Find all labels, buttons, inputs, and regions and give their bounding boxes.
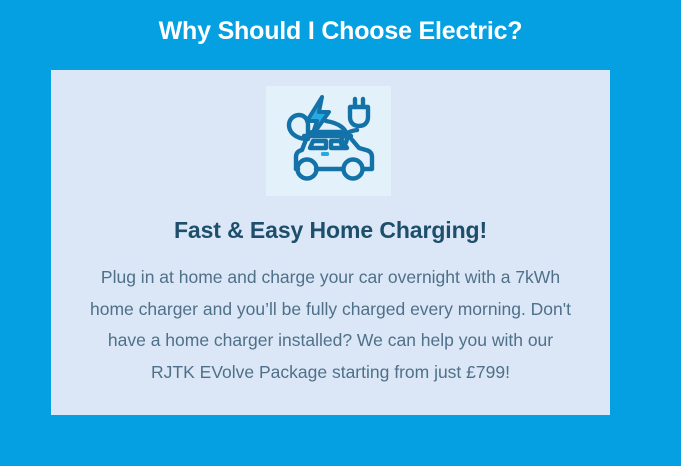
electric-promo-panel: Why Should I Choose Electric? <box>0 0 681 466</box>
body-line: home charger and you’ll be fully charged… <box>65 294 596 326</box>
card-body-text: Plug in at home and charge your car over… <box>65 262 596 388</box>
body-line: RJTK EVolve Package starting from just £… <box>65 357 596 389</box>
card-heading: Fast & Easy Home Charging! <box>51 215 610 245</box>
electric-car-charging-icon <box>277 95 381 187</box>
body-line: have a home charger installed? We can he… <box>65 325 596 357</box>
body-line: Plug in at home and charge your car over… <box>65 262 596 294</box>
page-title: Why Should I Choose Electric? <box>0 15 681 47</box>
feature-card: Fast & Easy Home Charging! Plug in at ho… <box>51 70 610 415</box>
icon-tile <box>266 86 391 196</box>
door-handle-accent <box>321 152 329 156</box>
